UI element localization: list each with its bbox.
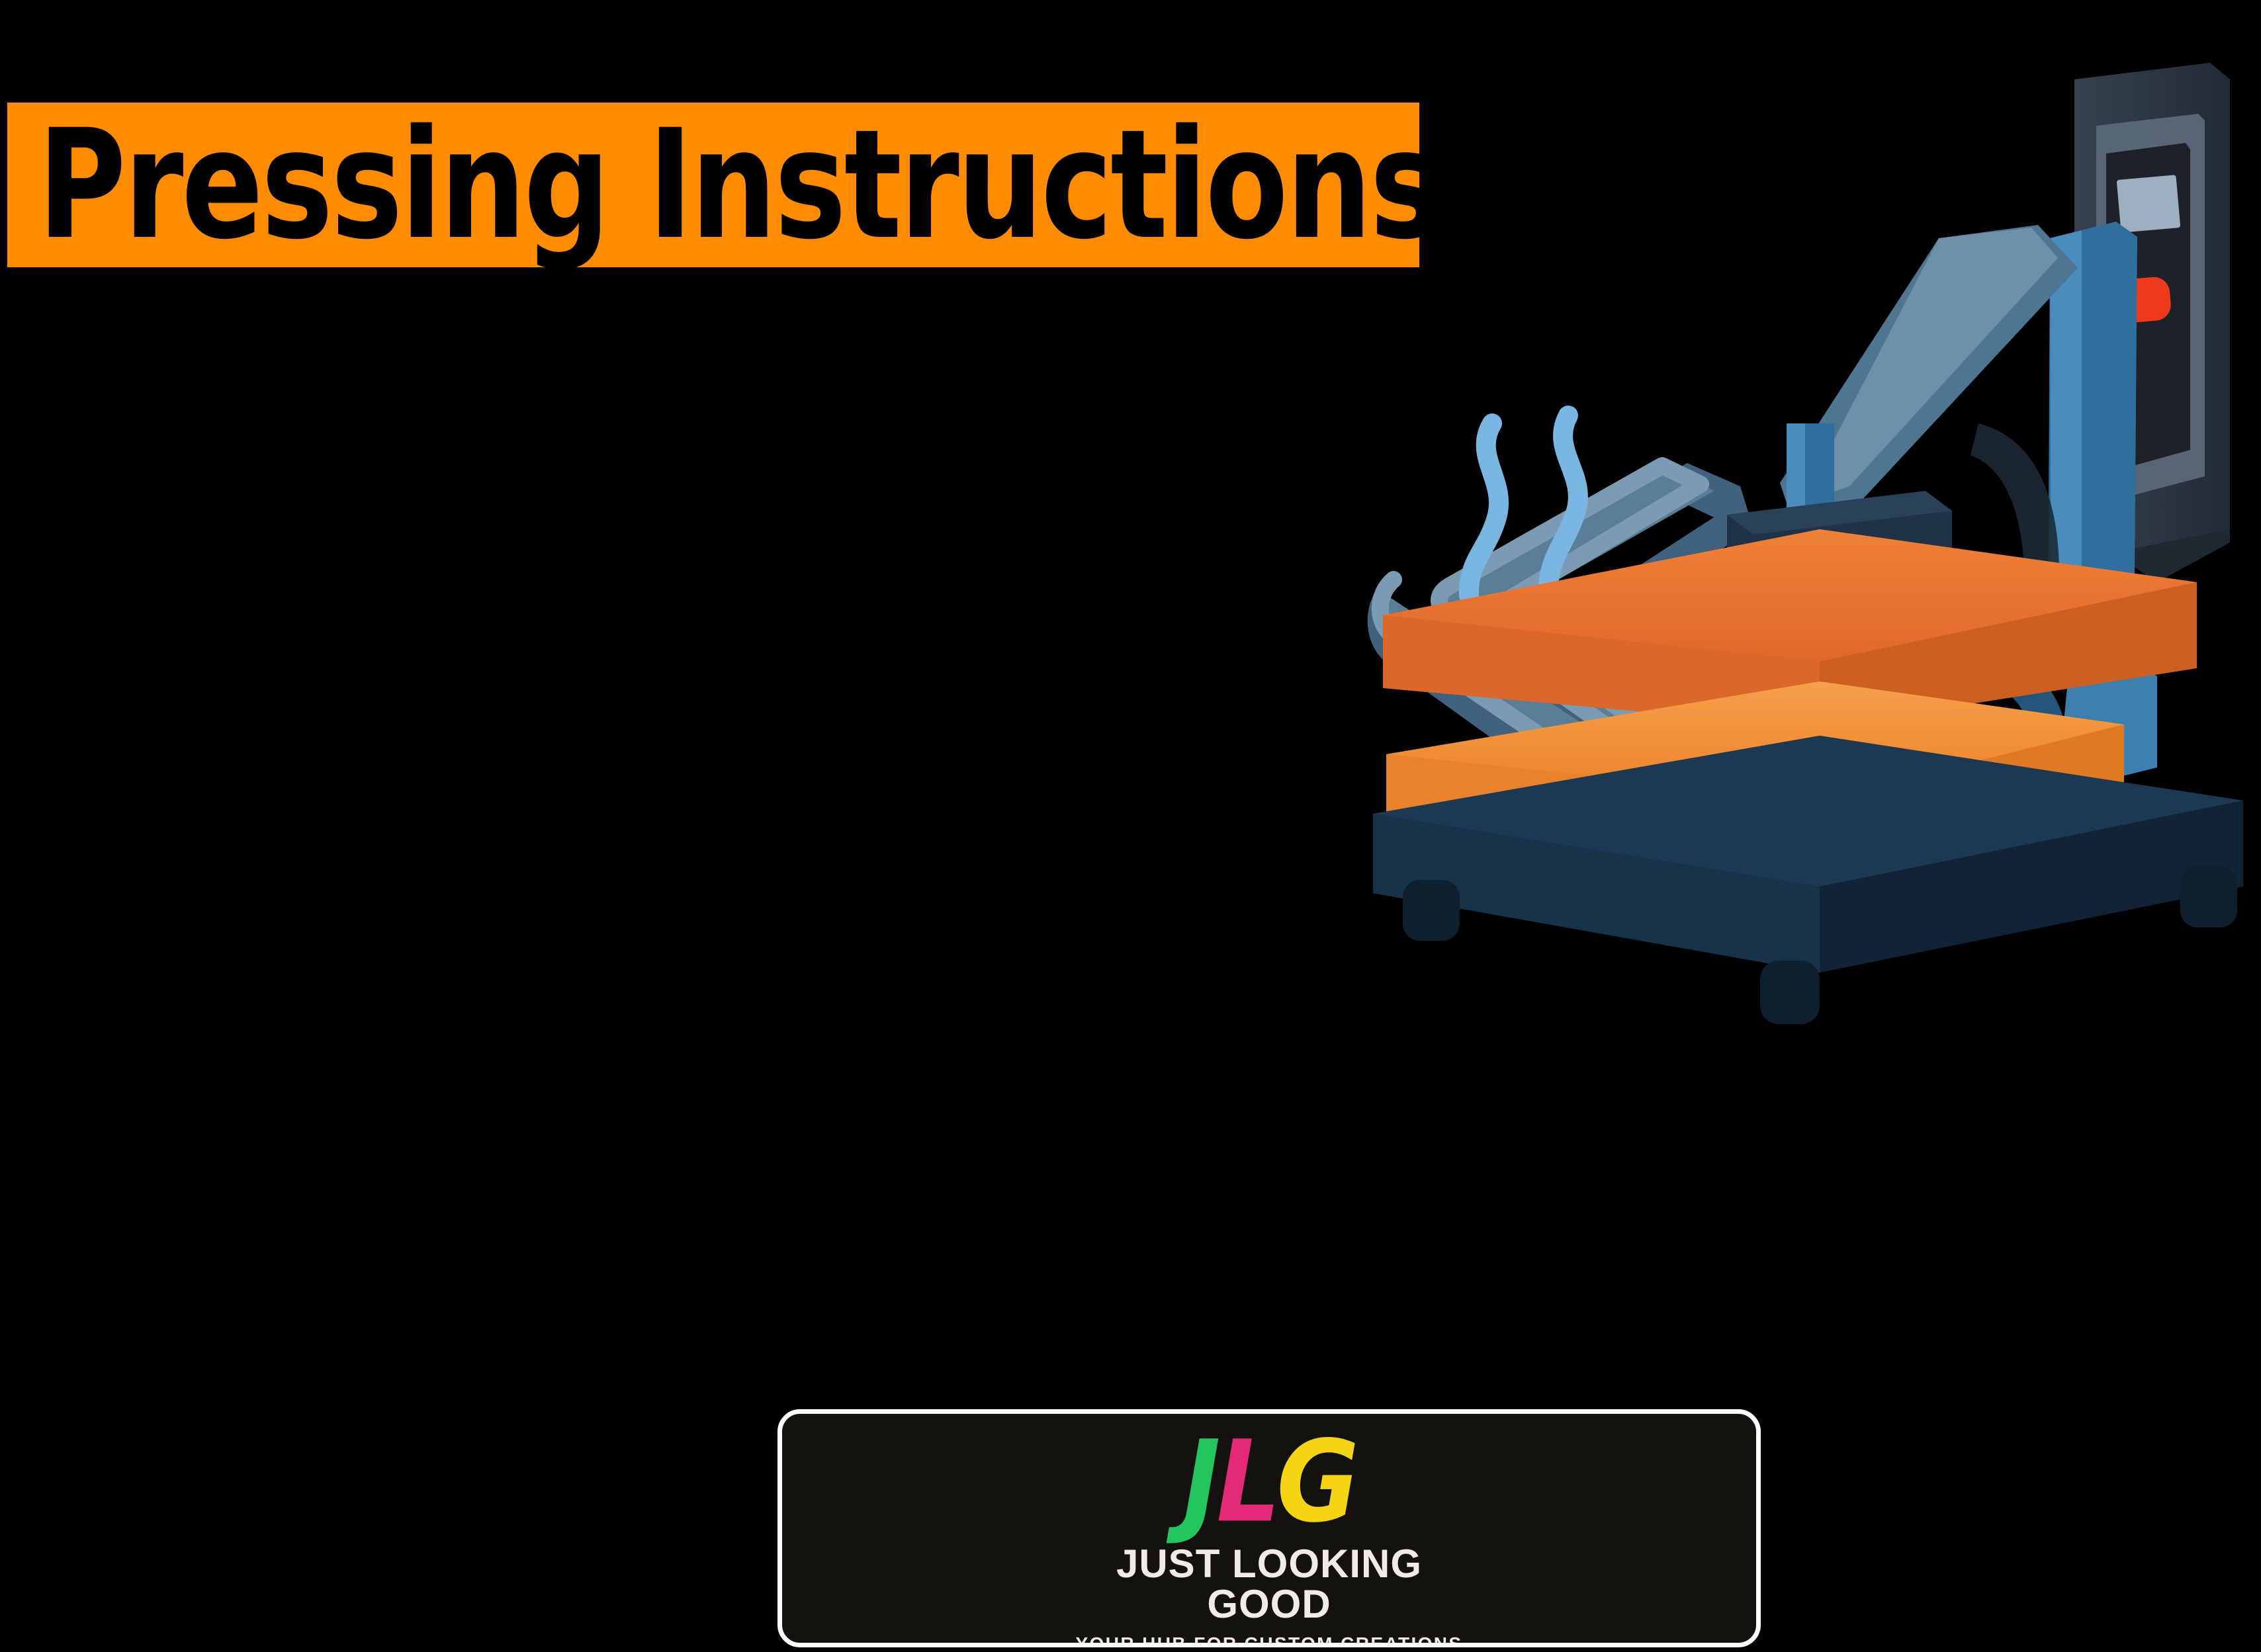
jlg-logo-card: JLG JUST LOOKING GOOD YOUR HUB FOR CUSTO… <box>777 1409 1761 1647</box>
jlg-monogram: JLG <box>1183 1426 1355 1538</box>
monogram-letter-l: L <box>1216 1416 1276 1547</box>
logo-name-line-2: GOOD <box>1207 1584 1331 1624</box>
logo-tagline-line-1: YOUR HUB FOR CUSTOM CREATIONS <box>1075 1632 1462 1647</box>
logo-name-line-1: JUST LOOKING <box>1116 1543 1422 1584</box>
monogram-letter-g: G <box>1276 1416 1355 1547</box>
panel-screen <box>2117 175 2181 233</box>
press-foot-left <box>1403 880 1460 941</box>
page-title: Pressing Instructions <box>38 113 1440 257</box>
slide-canvas: Pressing Instructions <box>0 0 2261 1652</box>
title-banner: Pressing Instructions <box>7 103 1419 267</box>
press-foot-front <box>1760 961 1820 1024</box>
heat-press-illustration <box>1356 0 2261 1032</box>
monogram-letter-j: J <box>1183 1416 1217 1547</box>
heat-press-svg <box>1356 0 2261 1032</box>
press-foot-right <box>2180 867 2237 928</box>
